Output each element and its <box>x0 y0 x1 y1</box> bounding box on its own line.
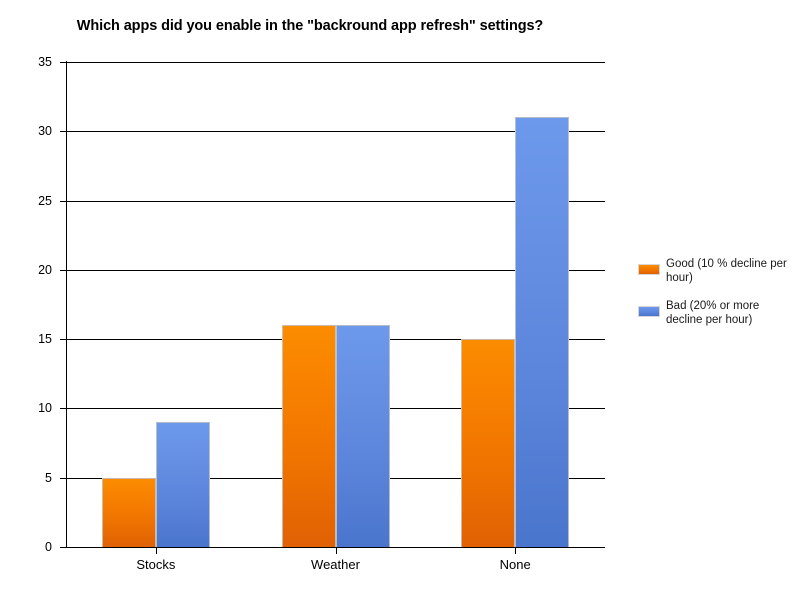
y-axis-tick-label: 30 <box>8 125 52 137</box>
x-axis-tick <box>515 547 516 554</box>
y-axis-tick-label: 25 <box>8 195 52 207</box>
plot-area <box>66 62 605 547</box>
legend-swatch-good-icon <box>638 264 660 275</box>
y-axis-tick-label: 35 <box>8 56 52 68</box>
y-axis-tick-label: 0 <box>8 541 52 553</box>
x-axis-label-weather: Weather <box>256 557 416 572</box>
x-axis-label-stocks: Stocks <box>76 557 236 572</box>
legend-swatch-bad-icon <box>638 306 660 317</box>
y-axis-tick-label: 10 <box>8 402 52 414</box>
x-axis-tick <box>156 547 157 554</box>
y-axis-tick-label: 5 <box>8 472 52 484</box>
bar-weather-good[interactable] <box>282 325 336 547</box>
legend-label-bad: Bad (20% or more decline per hour) <box>666 300 794 327</box>
y-axis-tick-label: 15 <box>8 333 52 345</box>
y-axis-tick-label: 20 <box>8 264 52 276</box>
legend-label-good: Good (10 % decline per hour) <box>666 258 794 285</box>
legend: Good (10 % decline per hour) Bad (20% or… <box>636 258 796 342</box>
legend-item-good[interactable]: Good (10 % decline per hour) <box>636 258 796 288</box>
bar-weather-bad[interactable] <box>336 325 390 547</box>
chart-title: Which apps did you enable in the "backro… <box>0 18 620 34</box>
bar-none-good[interactable] <box>461 339 515 547</box>
bar-stocks-good[interactable] <box>102 478 156 547</box>
legend-item-bad[interactable]: Bad (20% or more decline per hour) <box>636 300 796 330</box>
x-axis-tick <box>336 547 337 554</box>
gridline <box>66 62 605 63</box>
bar-none-bad[interactable] <box>515 117 569 547</box>
bar-stocks-bad[interactable] <box>156 422 210 547</box>
bar-chart: Which apps did you enable in the "backro… <box>0 0 800 600</box>
x-axis-label-none: None <box>435 557 595 572</box>
